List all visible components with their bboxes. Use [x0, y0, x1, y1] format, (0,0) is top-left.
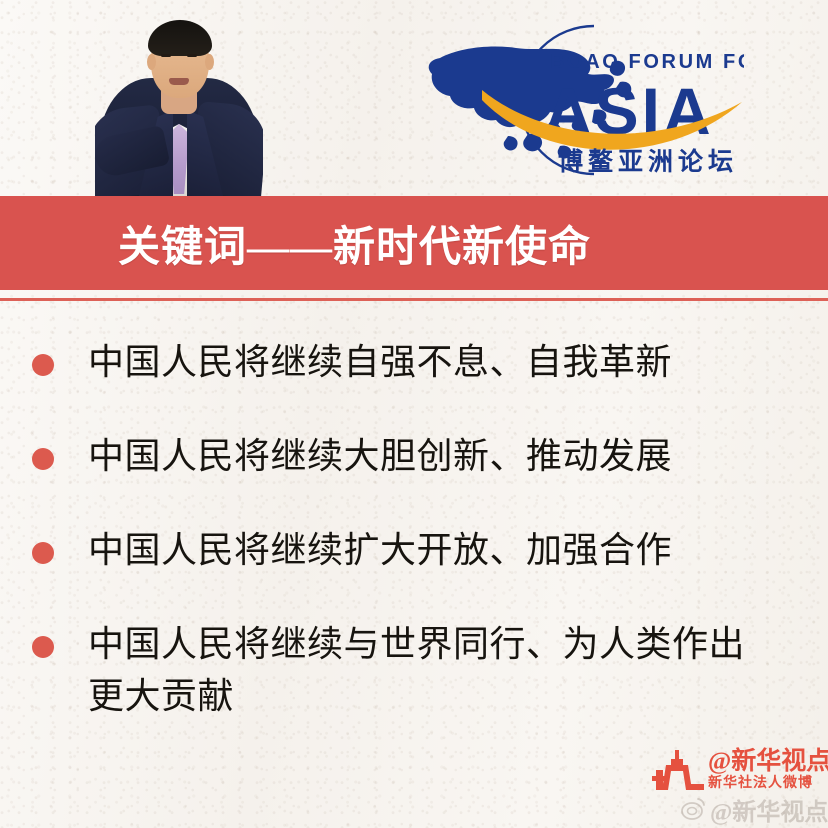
xinhua-account-name: @新华视点	[708, 748, 828, 775]
xinhua-logo: @新华视点 新华社法人微博	[652, 748, 828, 796]
list-item: 中国人民将继续与世界同行、为人类作出更大贡献	[0, 618, 828, 722]
portrait-hair	[148, 20, 212, 56]
bullet-dot-icon	[32, 354, 54, 376]
bullet-dot-icon	[32, 542, 54, 564]
list-item: 中国人民将继续扩大开放、加强合作	[0, 524, 828, 578]
portrait-ear-right	[205, 54, 214, 70]
list-item-text: 中国人民将继续扩大开放、加强合作	[88, 524, 672, 576]
xinhua-tower-icon	[652, 750, 704, 794]
list-item: 中国人民将继续自强不息、自我革新	[0, 336, 828, 390]
boao-forum-for-asia-logo: BOAO FORUM FOR ASIA 博鳌亚洲论坛	[398, 18, 744, 182]
page-title: 关键词——新时代新使命	[118, 213, 591, 274]
list-item: 中国人民将继续大胆创新、推动发展	[0, 430, 828, 484]
title-banner: 关键词——新时代新使命	[0, 196, 828, 290]
bullet-dot-icon	[32, 448, 54, 470]
poster-canvas: BOAO FORUM FOR ASIA 博鳌亚洲论坛 关键词——新时代新使命 中…	[0, 0, 828, 828]
bullet-dot-icon	[32, 636, 54, 658]
key-points-list: 中国人民将继续自强不息、自我革新 中国人民将继续大胆创新、推动发展 中国人民将继…	[0, 336, 828, 722]
portrait-mouth	[169, 78, 189, 85]
logo-tagline: BOAO FORUM FOR	[550, 51, 744, 73]
portrait-eye-right	[187, 54, 197, 57]
list-item-text: 中国人民将继续自强不息、自我革新	[88, 336, 672, 388]
weibo-watermark-label: @新华视点	[710, 792, 828, 827]
xinhua-account-subtitle: 新华社法人微博	[708, 775, 828, 792]
list-item-text: 中国人民将继续与世界同行、为人类作出更大贡献	[88, 618, 778, 722]
speaker-portrait	[95, 8, 263, 196]
logo-chinese-name: 博鳌亚洲论坛	[558, 148, 738, 176]
poster-header: BOAO FORUM FOR ASIA 博鳌亚洲论坛	[0, 0, 828, 196]
weibo-icon	[680, 796, 706, 822]
list-item-text: 中国人民将继续大胆创新、推动发展	[88, 430, 672, 482]
portrait-eye-left	[161, 54, 171, 57]
weibo-watermark: @新华视点	[680, 792, 828, 826]
banner-underline-rule	[0, 298, 828, 301]
portrait-ear-left	[147, 54, 156, 70]
xinhua-logo-text: @新华视点 新华社法人微博	[708, 748, 828, 792]
